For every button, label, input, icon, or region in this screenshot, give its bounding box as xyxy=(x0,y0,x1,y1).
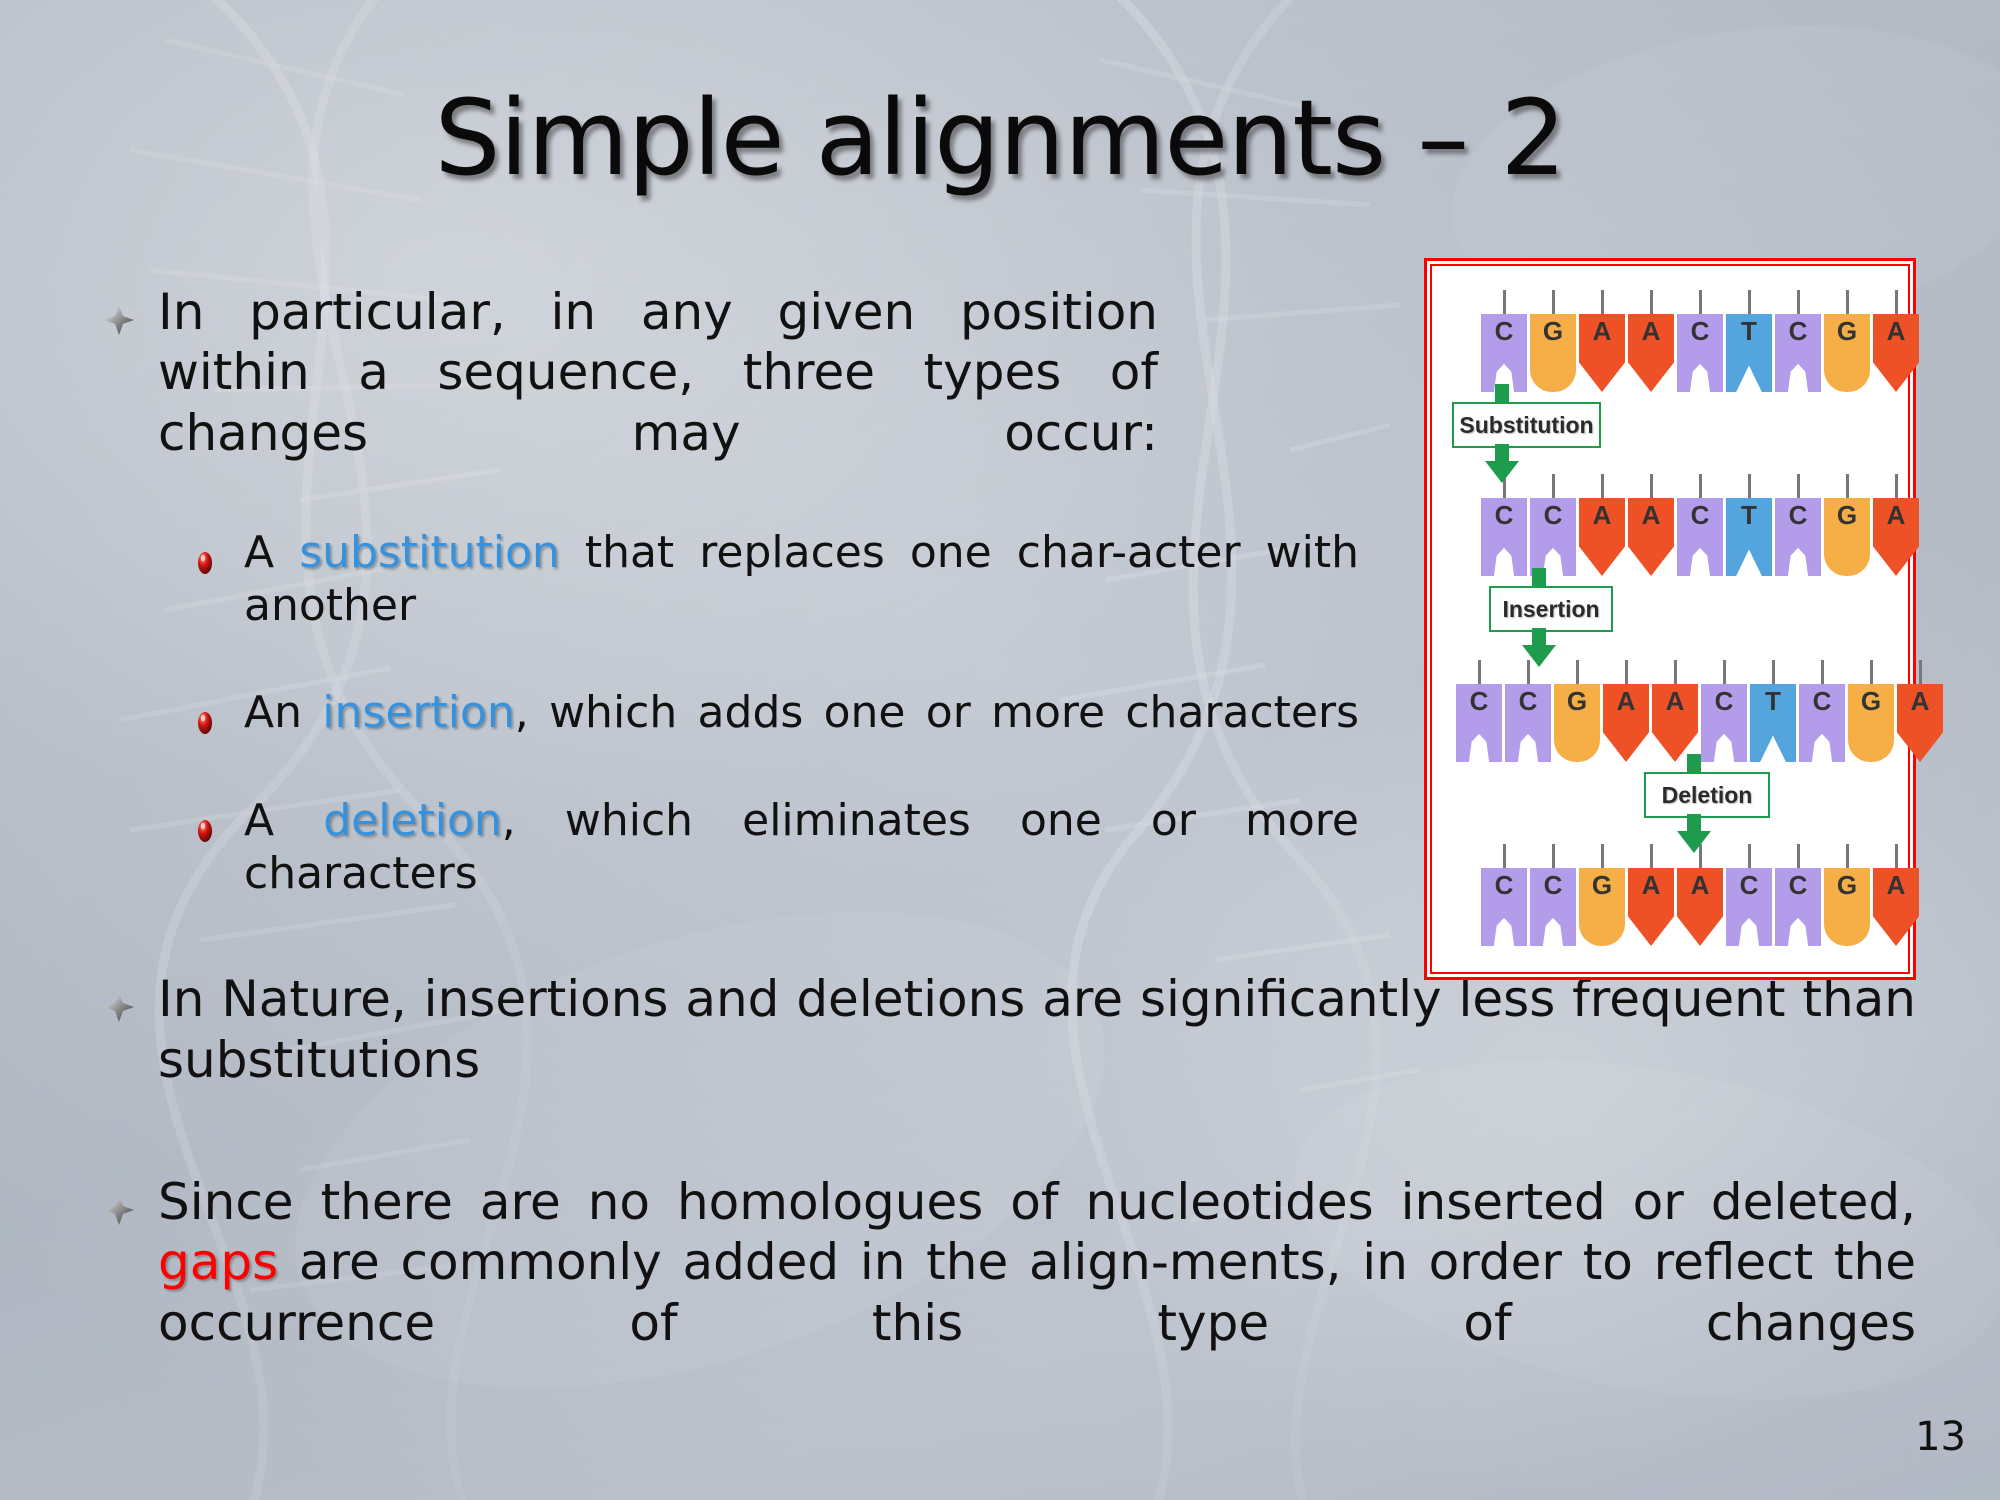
base-stem xyxy=(1748,844,1751,868)
dna-base-t: T xyxy=(1750,660,1796,764)
base-letter: C xyxy=(1677,502,1723,528)
dna-base-a: A xyxy=(1677,844,1723,948)
base-stem xyxy=(1503,290,1506,314)
dna-base-g: G xyxy=(1554,660,1600,764)
base-stem xyxy=(1552,290,1555,314)
base-stem xyxy=(1503,844,1506,868)
base-letter: C xyxy=(1799,688,1845,714)
base-stem xyxy=(1699,290,1702,314)
operation-arrow-head xyxy=(1522,645,1556,667)
subbullet-text: A deletion, which eliminates one or more… xyxy=(244,795,1359,952)
bullet-text: In Nature, insertions and deletions are … xyxy=(158,969,1916,1150)
dna-base-c: C xyxy=(1505,660,1551,764)
bullet-text: In particular, in any given position wit… xyxy=(158,282,1158,523)
subbullet-text: An insertion, which adds one or more cha… xyxy=(244,687,1359,791)
dna-base-t: T xyxy=(1726,474,1772,578)
diamond-bullet-icon xyxy=(102,303,136,337)
dna-base-c: C xyxy=(1799,660,1845,764)
base-stem xyxy=(1576,660,1579,684)
dna-base-a: A xyxy=(1873,474,1919,578)
base-letter: G xyxy=(1824,872,1870,898)
operation-arrow-head xyxy=(1677,831,1711,853)
base-letter: G xyxy=(1824,318,1870,344)
base-letter: T xyxy=(1750,688,1796,714)
bullet-in-nature: In Nature, insertions and deletions are … xyxy=(96,969,1916,1150)
base-stem xyxy=(1797,290,1800,314)
base-stem xyxy=(1601,844,1604,868)
base-letter: C xyxy=(1775,872,1821,898)
dna-base-a: A xyxy=(1579,474,1625,578)
dna-base-a: A xyxy=(1897,660,1943,764)
dna-base-a: A xyxy=(1628,844,1674,948)
dna-sequence-row: CCAACTCGA xyxy=(1481,474,1922,582)
base-letter: A xyxy=(1579,502,1625,528)
base-letter: A xyxy=(1873,872,1919,898)
base-letter: A xyxy=(1652,688,1698,714)
base-letter: G xyxy=(1848,688,1894,714)
base-stem xyxy=(1846,844,1849,868)
bullet-gaps: Since there are no homologues of nucleot… xyxy=(96,1172,1916,1413)
base-letter: C xyxy=(1775,318,1821,344)
base-stem xyxy=(1748,474,1751,498)
base-stem xyxy=(1699,474,1702,498)
operation-arrow-stem-bottom xyxy=(1687,814,1701,832)
bullet-prefix: Since there are no homologues of nucleot… xyxy=(158,1173,1916,1231)
base-stem xyxy=(1601,290,1604,314)
operation-label-substitution: Substitution xyxy=(1452,402,1601,448)
dna-base-c: C xyxy=(1775,474,1821,578)
slide-canvas: Simple alignments – 2 In particular, in … xyxy=(0,0,2000,1500)
keyword-deletion: deletion xyxy=(323,795,502,846)
base-stem xyxy=(1748,290,1751,314)
diamond-bullet-icon xyxy=(102,990,136,1024)
base-letter: A xyxy=(1628,872,1674,898)
figure-canvas: CGAACTCGACCAACTCGACCGAACTCGACCGAACCGASub… xyxy=(1434,268,1906,970)
keyword-substitution: substitution xyxy=(299,527,560,578)
operation-arrow-stem-top xyxy=(1495,384,1509,404)
base-stem xyxy=(1919,660,1922,684)
base-letter: C xyxy=(1530,872,1576,898)
base-letter: G xyxy=(1579,872,1625,898)
subbullet-prefix: An xyxy=(244,687,322,738)
base-stem xyxy=(1895,474,1898,498)
subbullet-insertion: An insertion, which adds one or more cha… xyxy=(96,687,1359,793)
base-letter: C xyxy=(1726,872,1772,898)
operation-arrow-head xyxy=(1485,461,1519,483)
bullet-in-particular: In particular, in any given position wit… xyxy=(96,282,1158,523)
dna-mutation-figure: CGAACTCGACCAACTCGACCGAACTCGACCGAACCGASub… xyxy=(1424,258,1916,980)
subbullet-substitution: A substitution that replaces one char-ac… xyxy=(96,527,1359,685)
keyword-gaps: gaps xyxy=(158,1233,278,1291)
base-letter: C xyxy=(1677,318,1723,344)
dna-base-c: C xyxy=(1530,474,1576,578)
base-stem xyxy=(1552,844,1555,868)
dna-sequence-row: CCGAACTCGA xyxy=(1456,660,1946,768)
base-stem xyxy=(1601,474,1604,498)
subbullet-suffix: , which adds one or more characters xyxy=(515,687,1359,738)
bullet-suffix: are commonly added in the align-ments, i… xyxy=(158,1233,1916,1351)
dna-sequence-row: CCGAACCGA xyxy=(1481,844,1922,952)
base-stem xyxy=(1478,660,1481,684)
base-letter: A xyxy=(1628,502,1674,528)
base-letter: A xyxy=(1603,688,1649,714)
subbullet-prefix: A xyxy=(244,795,323,846)
base-stem xyxy=(1650,290,1653,314)
dna-base-g: G xyxy=(1848,660,1894,764)
page-number: 13 xyxy=(1915,1414,1966,1460)
bullet-text: Since there are no homologues of nucleot… xyxy=(158,1172,1916,1413)
base-stem xyxy=(1650,474,1653,498)
base-stem xyxy=(1846,290,1849,314)
base-letter: A xyxy=(1873,318,1919,344)
base-letter: G xyxy=(1530,318,1576,344)
operation-label-insertion: Insertion xyxy=(1489,586,1613,632)
operation-arrow-stem-top xyxy=(1532,568,1546,588)
subbullet-text: A substitution that replaces one char-ac… xyxy=(244,527,1359,684)
dna-base-g: G xyxy=(1824,474,1870,578)
dna-base-a: A xyxy=(1873,290,1919,394)
dna-base-c: C xyxy=(1701,660,1747,764)
dna-base-t: T xyxy=(1726,290,1772,394)
base-letter: C xyxy=(1775,502,1821,528)
base-stem xyxy=(1650,844,1653,868)
base-letter: A xyxy=(1873,502,1919,528)
dna-base-c: C xyxy=(1677,474,1723,578)
dna-base-g: G xyxy=(1579,844,1625,948)
dna-base-a: A xyxy=(1603,660,1649,764)
diamond-bullet-icon xyxy=(102,1193,136,1227)
base-letter: C xyxy=(1701,688,1747,714)
dna-base-c: C xyxy=(1481,474,1527,578)
dna-base-a: A xyxy=(1628,474,1674,578)
red-gem-bullet-icon xyxy=(192,550,218,576)
dna-base-c: C xyxy=(1456,660,1502,764)
operation-arrow-stem-bottom xyxy=(1532,628,1546,646)
dna-base-c: C xyxy=(1677,290,1723,394)
dna-base-c: C xyxy=(1726,844,1772,948)
dna-base-c: C xyxy=(1481,844,1527,948)
base-stem xyxy=(1821,660,1824,684)
dna-base-c: C xyxy=(1775,290,1821,394)
base-letter: C xyxy=(1530,502,1576,528)
dna-base-c: C xyxy=(1775,844,1821,948)
dna-base-a: A xyxy=(1579,290,1625,394)
page-title: Simple alignments – 2 xyxy=(0,84,2000,192)
base-stem xyxy=(1674,660,1677,684)
base-letter: T xyxy=(1726,502,1772,528)
base-letter: A xyxy=(1628,318,1674,344)
base-stem xyxy=(1797,474,1800,498)
dna-base-a: A xyxy=(1652,660,1698,764)
dna-base-g: G xyxy=(1824,290,1870,394)
base-letter: A xyxy=(1897,688,1943,714)
base-letter: C xyxy=(1481,502,1527,528)
base-letter: C xyxy=(1505,688,1551,714)
operation-arrow-stem-top xyxy=(1687,754,1701,774)
dna-base-g: G xyxy=(1530,290,1576,394)
operation-label-deletion: Deletion xyxy=(1644,772,1770,818)
base-letter: A xyxy=(1677,872,1723,898)
base-letter: A xyxy=(1579,318,1625,344)
base-stem xyxy=(1625,660,1628,684)
keyword-insertion: insertion xyxy=(322,687,514,738)
subbullet-deletion: A deletion, which eliminates one or more… xyxy=(96,795,1359,953)
dna-base-g: G xyxy=(1824,844,1870,948)
base-letter: G xyxy=(1554,688,1600,714)
dna-base-c: C xyxy=(1481,290,1527,394)
dna-base-a: A xyxy=(1628,290,1674,394)
dna-base-a: A xyxy=(1873,844,1919,948)
dna-base-c: C xyxy=(1530,844,1576,948)
base-stem xyxy=(1870,660,1873,684)
base-stem xyxy=(1723,660,1726,684)
red-gem-bullet-icon xyxy=(192,818,218,844)
base-stem xyxy=(1772,660,1775,684)
base-letter: C xyxy=(1481,872,1527,898)
red-gem-bullet-icon xyxy=(192,710,218,736)
base-stem xyxy=(1895,844,1898,868)
base-stem xyxy=(1552,474,1555,498)
base-letter: C xyxy=(1481,318,1527,344)
subbullet-prefix: A xyxy=(244,527,299,578)
base-stem xyxy=(1797,844,1800,868)
base-stem xyxy=(1895,290,1898,314)
base-letter: C xyxy=(1456,688,1502,714)
dna-sequence-row: CGAACTCGA xyxy=(1481,290,1922,398)
operation-arrow-stem-bottom xyxy=(1495,444,1509,462)
base-letter: G xyxy=(1824,502,1870,528)
base-stem xyxy=(1846,474,1849,498)
base-letter: T xyxy=(1726,318,1772,344)
